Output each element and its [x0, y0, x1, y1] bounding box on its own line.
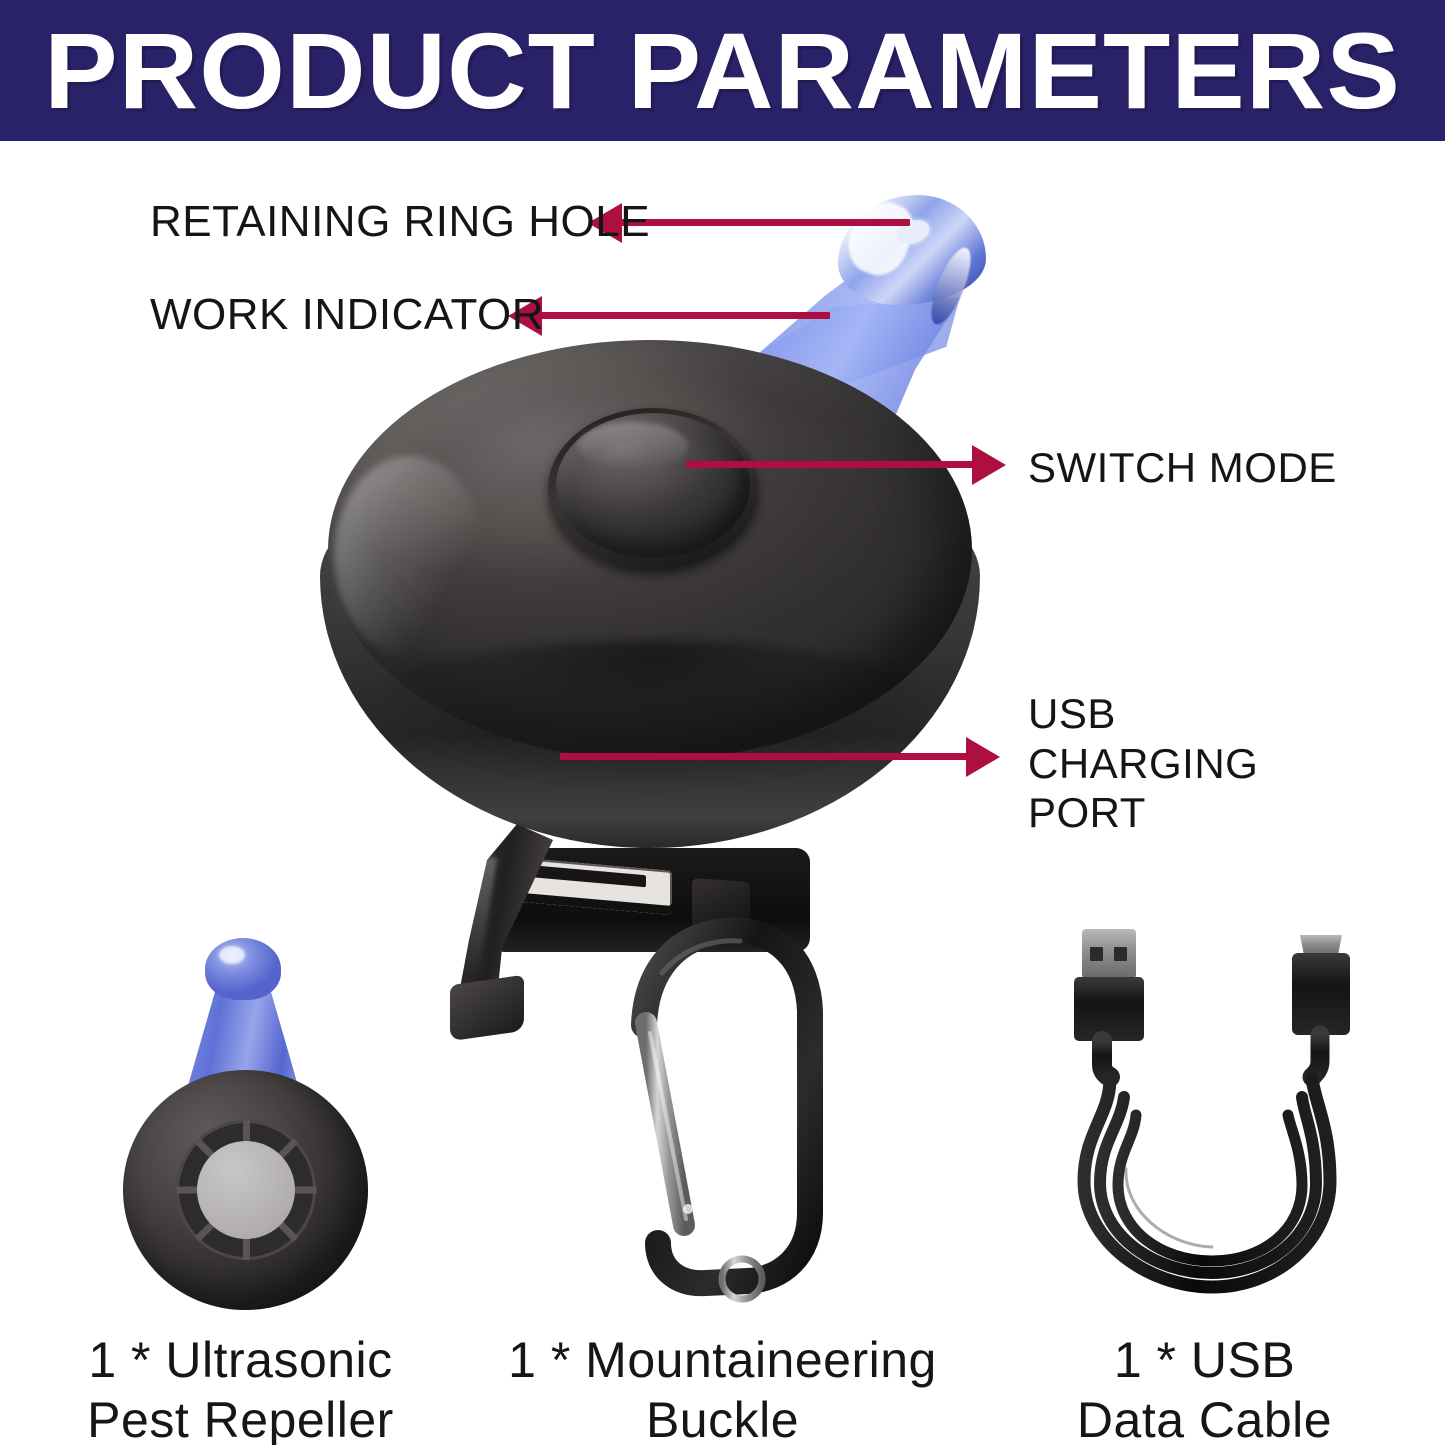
switch-mode-button-feature	[548, 408, 758, 570]
callout-label-work-indicator: WORK INDICATOR	[150, 289, 544, 341]
package-item-caption: 1 * Ultrasonic Pest Repeller	[0, 1330, 481, 1445]
micro-usb-housing	[1292, 953, 1350, 1035]
arrow-line	[560, 753, 970, 760]
repeller-thumbnail-art	[0, 905, 481, 1315]
micro-usb-metal-shell	[1300, 935, 1342, 955]
arrow-line	[540, 312, 830, 319]
arrow-head-right-icon	[972, 445, 1006, 485]
package-item-mountaineering-buckle: 1 * Mountaineering Buckle	[482, 905, 963, 1315]
page-title: PRODUCT PARAMETERS	[0, 0, 1445, 141]
repeller-blue-knob	[205, 938, 281, 1000]
package-item-caption: 1 * Mountaineering Buckle	[482, 1330, 963, 1445]
callout-label-switch-mode: SWITCH MODE	[1028, 443, 1337, 493]
device-rim-shadow	[344, 640, 956, 790]
repeller-grille-center	[197, 1141, 295, 1239]
carabiner-gate	[646, 1023, 684, 1225]
package-item-ultrasonic-pest-repeller: 1 * Ultrasonic Pest Repeller	[0, 905, 481, 1315]
usb-cable-illustration	[1024, 919, 1394, 1304]
usb-a-strain-relief	[1102, 1041, 1110, 1077]
repeller-illustration	[105, 920, 375, 1310]
product-parameters-infographic: PRODUCT PARAMETERS	[0, 0, 1445, 1445]
cable-thumbnail-art	[964, 905, 1445, 1315]
header-banner: PRODUCT PARAMETERS	[0, 0, 1445, 141]
callout-label-usb-charging-port: USB CHARGING PORT	[1028, 689, 1258, 838]
arrow-line	[686, 461, 976, 468]
cable-cord-inner2	[1118, 1115, 1302, 1261]
arrow-head-right-icon	[966, 737, 1000, 777]
package-item-usb-data-cable: 1 * USB Data Cable	[964, 905, 1445, 1315]
device-top-highlight	[334, 456, 484, 656]
micro-usb-strain-relief	[1312, 1035, 1320, 1077]
buckle-thumbnail-art	[482, 905, 963, 1315]
usb-a-contact	[1090, 947, 1103, 961]
repeller-knob-highlight	[219, 946, 245, 964]
usb-a-housing	[1074, 977, 1144, 1041]
device-body	[320, 340, 980, 860]
carabiner-illustration	[602, 913, 842, 1313]
package-item-caption: 1 * USB Data Cable	[964, 1330, 1445, 1445]
button-gloss-highlight	[578, 422, 688, 470]
arrow-line	[620, 219, 910, 226]
callout-label-retaining-ring-hole: RETAINING RING HOLE	[150, 196, 650, 248]
usb-a-contact	[1114, 947, 1127, 961]
